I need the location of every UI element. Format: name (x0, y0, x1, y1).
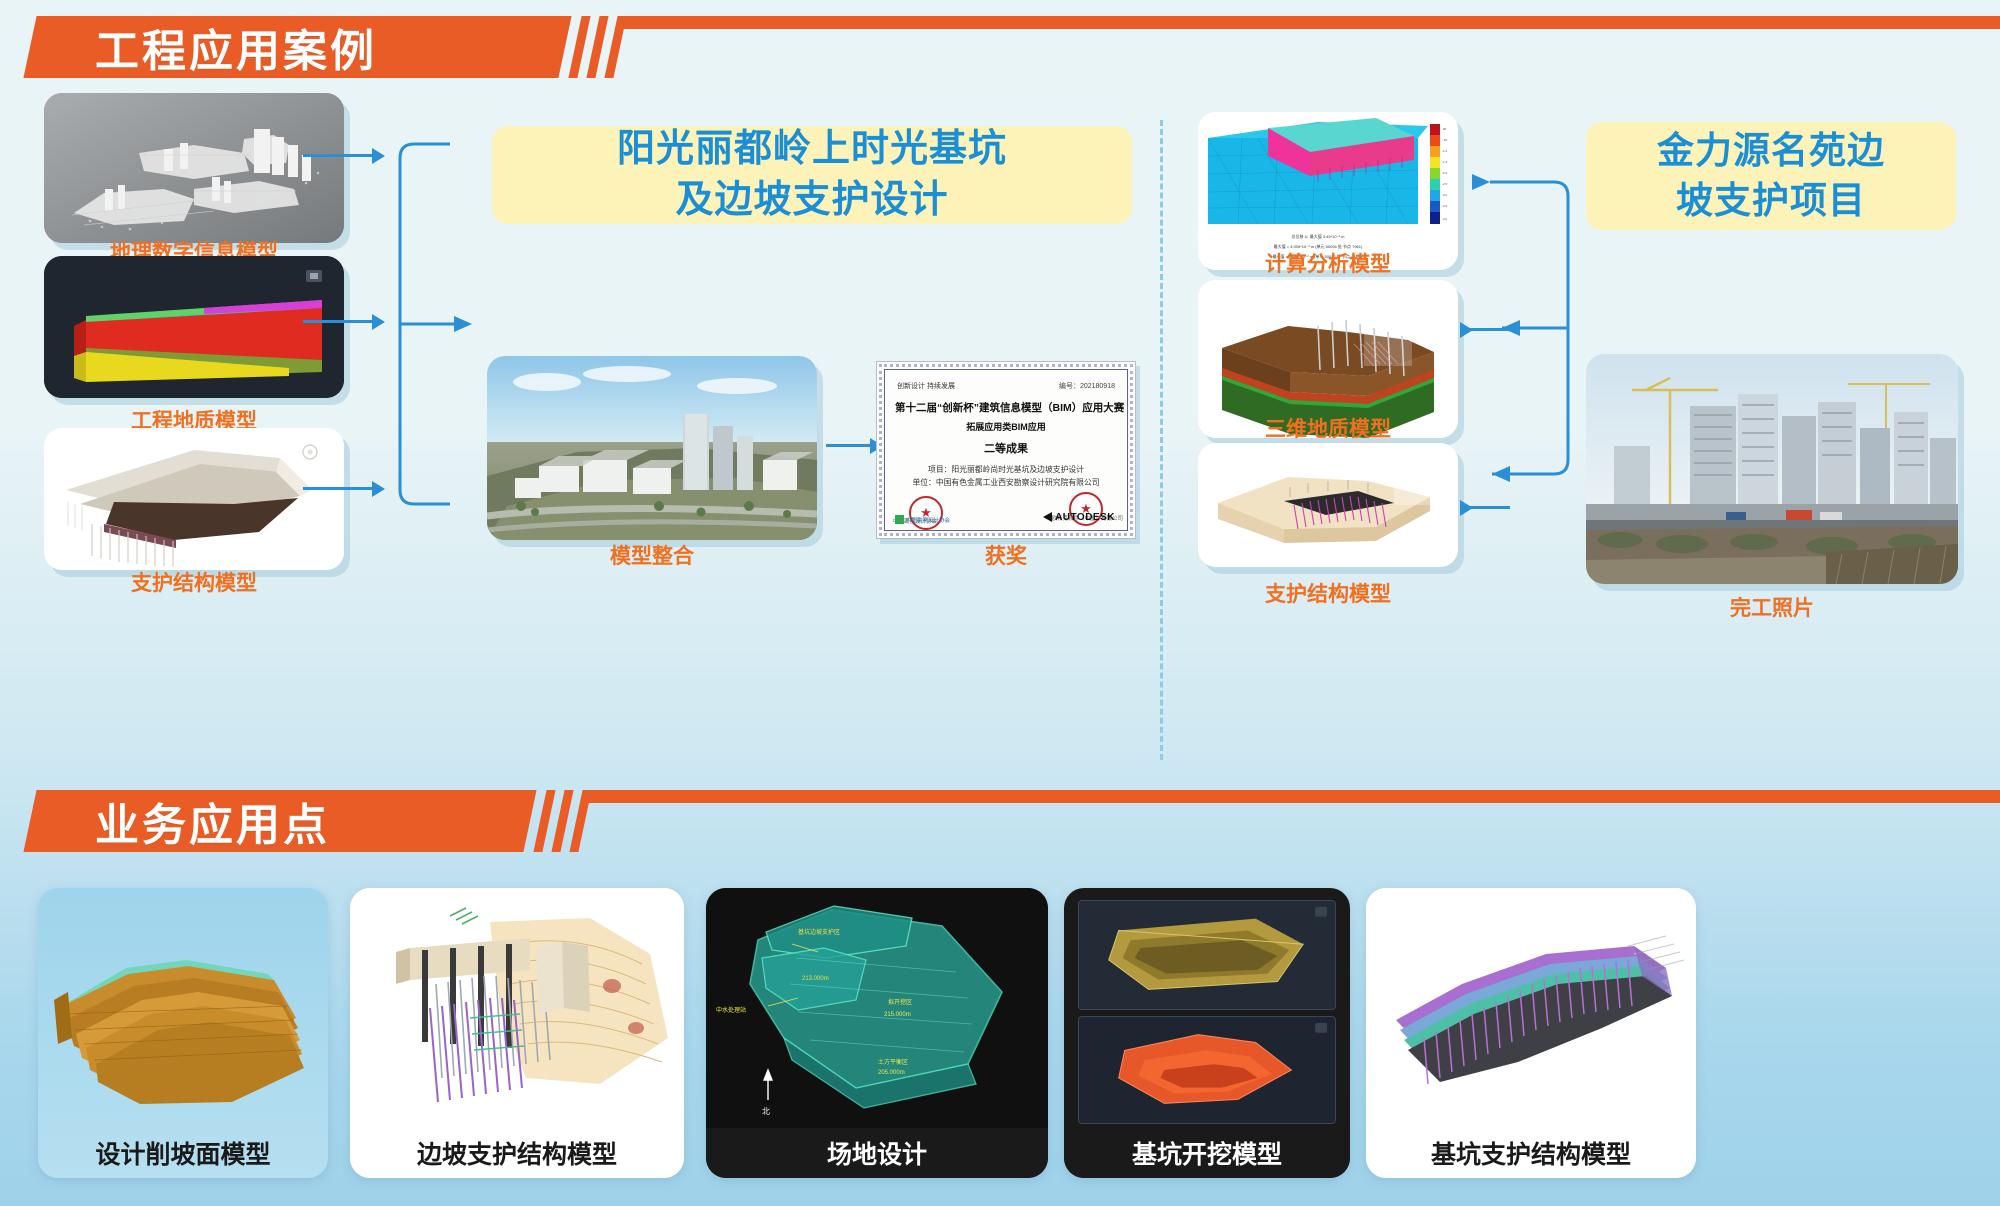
right-title-box: 金力源名苑边 坡支护项目 (1586, 122, 1956, 230)
card-model-integration[interactable] (487, 356, 817, 540)
certificate-grade: 二等成果 (885, 440, 1127, 456)
excavation-bottom-illustration (1079, 1017, 1335, 1123)
certificate-motto: 创新设计 持续发展 (897, 381, 955, 391)
bottom-label-5: 基坑支护结构模型 (1431, 1135, 1631, 1171)
svg-text:基坑边坡支护区: 基坑边坡支护区 (798, 928, 840, 936)
poster-root: 工程应用案例 (0, 0, 2000, 1206)
bottom-card-caption-2: 边坡支护结构模型 (350, 1128, 684, 1178)
svg-text:205.000m: 205.000m (878, 1070, 905, 1076)
label-3d-geology-model: 三维地质模型 (1198, 413, 1458, 443)
support-structure-illustration (44, 428, 344, 570)
excavation-top-illustration (1079, 901, 1335, 1009)
pit-support-structure-illustration (1366, 888, 1696, 1128)
excavation-pane-top (1078, 900, 1336, 1010)
bottom-label-2: 边坡支护结构模型 (417, 1135, 617, 1171)
svg-text:中水处理站: 中水处理站 (716, 1006, 746, 1014)
autodesk-logo-icon (1043, 512, 1052, 522)
support-structure-right-illustration (1198, 443, 1458, 567)
arrow-right-geology (1460, 322, 1473, 338)
bottom-card-design-cut-slope[interactable]: 设计削坡面模型 (38, 888, 328, 1178)
center-title-line1: 阳光丽都岭上时光基坑 (617, 124, 1007, 175)
bottom-card-caption-1: 设计削坡面模型 (38, 1128, 328, 1178)
card-engineering-geology-model[interactable] (44, 256, 344, 398)
banner-title: 工程应用案例 (95, 15, 377, 79)
geology-strata-illustration (44, 256, 344, 398)
cut-slope-surface-illustration (38, 888, 328, 1128)
certificate-inner-border: 创新设计 持续发展 编号：202180918 第十二届“创新杯”建筑信息模型（B… (884, 369, 1128, 531)
banner2-tail (583, 790, 2000, 803)
autodesk-brand: AUTODESK (1043, 512, 1115, 523)
svg-text:215.000m: 215.000m (884, 1012, 911, 1018)
line-left-1 (303, 154, 375, 157)
slope-support-structure-illustration (350, 888, 684, 1128)
label-support-structure-model-right: 支护结构模型 (1198, 578, 1458, 608)
banner-tail (618, 16, 2000, 29)
svg-text:213.000m: 213.000m (802, 976, 829, 982)
svg-text:总位移 U, 最大值 3.49*10⁻² m: 总位移 U, 最大值 3.49*10⁻² m (1291, 233, 1345, 239)
svg-text:拟开挖区: 拟开挖区 (888, 998, 912, 1006)
line-left-3 (303, 487, 375, 490)
right-title-line1: 金力源名苑边 (1657, 126, 1885, 176)
svg-text:-1.5: -1.5 (1442, 160, 1448, 164)
svg-text:-2.0: -2.0 (1442, 171, 1448, 175)
line-left-2 (303, 320, 375, 323)
svg-text:北: 北 (762, 1107, 770, 1116)
label-award: 获奖 (876, 540, 1136, 570)
svg-text:土方平衡区: 土方平衡区 (878, 1058, 908, 1066)
model-integration-illustration (487, 356, 817, 540)
certificate-title: 第十二届“创新杯”建筑信息模型（BIM）应用大赛 (895, 400, 1124, 415)
bottom-card-caption-3: 场地设计 (706, 1128, 1048, 1178)
card-support-structure-model-right[interactable] (1198, 443, 1458, 567)
card-calculation-analysis-model[interactable]: .00-.50-1.0 -1.5-2.0-2.5 -3.0-3.5-4.0 总位… (1198, 112, 1458, 270)
association-logo-text: 中国勘察设计协会 (906, 516, 950, 524)
autodesk-wordmark: AUTODESK (1055, 512, 1115, 523)
card-geo-digital-info-model[interactable] (44, 93, 344, 243)
bottom-label-1: 设计削坡面模型 (95, 1135, 270, 1171)
svg-text:-3.5: -3.5 (1442, 204, 1448, 208)
certificate-serial-value: 202180918 (1080, 383, 1115, 390)
svg-text:-.50: -.50 (1442, 138, 1448, 142)
geo-pointcloud-illustration (44, 93, 344, 243)
arrow-right-support (1460, 500, 1473, 516)
excavation-pane-bottom (1078, 1016, 1336, 1124)
svg-text:-1.0: -1.0 (1442, 149, 1448, 153)
label-model-integration: 模型整合 (487, 540, 817, 570)
fem-analysis-illustration: .00-.50-1.0 -1.5-2.0-2.5 -3.0-3.5-4.0 总位… (1198, 112, 1458, 270)
association-logo-mark (895, 515, 904, 524)
certificate-category: 拓展应用类BIM应用 (885, 420, 1127, 433)
certificate-serial-label: 编号： (1059, 383, 1080, 390)
right-connector-bus (1462, 160, 1592, 540)
svg-text:-3.0: -3.0 (1442, 193, 1448, 197)
completion-photo-illustration (1586, 354, 1958, 584)
line-to-certificate (826, 444, 874, 447)
section-banner-engineering-cases: 工程应用案例 (0, 16, 2000, 78)
bottom-label-4: 基坑开挖模型 (1132, 1135, 1282, 1171)
right-title-line2: 坡支护项目 (1657, 176, 1885, 226)
svg-text:-4.0: -4.0 (1442, 217, 1448, 221)
bottom-card-site-design[interactable]: 基坑边坡支护区 213.000m 拟开挖区 215.000m 土方平衡区 205… (706, 888, 1048, 1178)
svg-text:.00: .00 (1442, 127, 1447, 131)
label-completion-photo: 完工照片 (1586, 592, 1958, 622)
site-design-plan-illustration: 基坑边坡支护区 213.000m 拟开挖区 215.000m 土方平衡区 205… (706, 888, 1048, 1128)
association-logo: 中国勘察设计协会 (895, 515, 950, 524)
bottom-label-3: 场地设计 (827, 1135, 927, 1171)
certificate-project: 项目：阳光丽都岭尚时光基坑及边坡支护设计 (885, 464, 1127, 475)
bottom-card-slope-support-structure[interactable]: 边坡支护结构模型 (350, 888, 684, 1178)
certificate-serial: 编号：202180918 (1059, 381, 1115, 391)
bottom-card-pit-support-structure[interactable]: 基坑支护结构模型 (1366, 888, 1696, 1178)
banner2-title: 业务应用点 (95, 789, 330, 853)
section-divider (1160, 120, 1163, 760)
center-title-box: 阳光丽都岭上时光基坑 及边坡支护设计 (492, 126, 1132, 224)
bottom-card-caption-4: 基坑开挖模型 (1064, 1128, 1350, 1178)
label-support-structure-model-left: 支护结构模型 (44, 567, 344, 597)
label-calculation-analysis-model: 计算分析模型 (1198, 248, 1458, 278)
card-award-certificate[interactable]: 创新设计 持续发展 编号：202180918 第十二届“创新杯”建筑信息模型（B… (876, 361, 1136, 539)
center-title-line2: 及边坡支护设计 (617, 175, 1007, 226)
bottom-card-caption-5: 基坑支护结构模型 (1366, 1128, 1696, 1178)
certificate-unit: 单位：中国有色金属工业西安勘察设计研究院有限公司 (885, 477, 1127, 488)
bottom-card-excavation-model[interactable]: 基坑开挖模型 (1064, 888, 1350, 1178)
svg-text:-2.5: -2.5 (1442, 182, 1448, 186)
section-banner-business-applications: 业务应用点 (0, 790, 2000, 852)
card-completion-photo[interactable] (1586, 354, 1958, 584)
card-support-structure-model-left[interactable] (44, 428, 344, 570)
